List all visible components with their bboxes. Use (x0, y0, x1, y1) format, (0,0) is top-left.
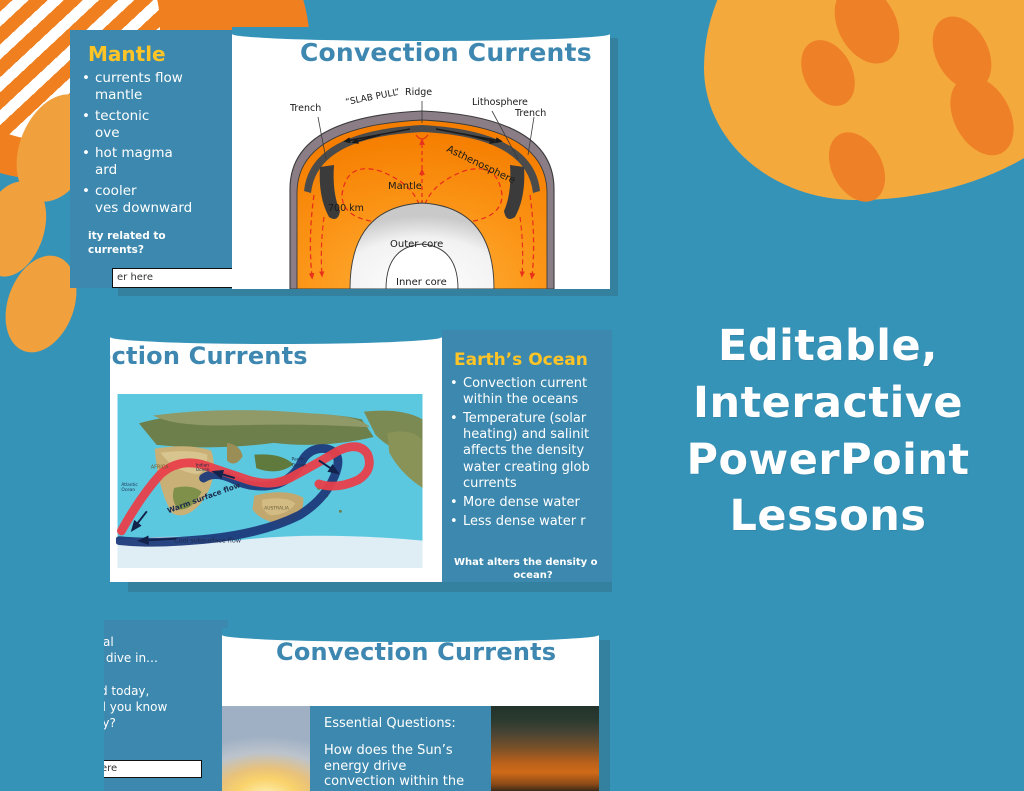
panel-heading: Earth’s Ocean (454, 350, 588, 370)
global-ocean-conveyor-map: Atlantic Ocean Indian Ocean Pacific Ocea… (114, 392, 426, 570)
label-depth: 700 km (328, 203, 364, 214)
hero-line-4: Lessons (648, 488, 1008, 545)
label-trench-left: Trench (289, 103, 321, 114)
hero-line-3: PowerPoint (648, 432, 1008, 489)
answer-input[interactable]: er here (112, 268, 235, 288)
orange-blob-top-right (704, 0, 1024, 200)
photo-strip: Essential Questions: How does the Sun’s … (222, 706, 599, 791)
hero-headline: Editable, Interactive PowerPoint Lessons (648, 318, 1008, 545)
label-pacific-2: Ocean (292, 462, 307, 468)
list-item: tectonic ove (82, 108, 235, 143)
list-item: currents flow mantle (82, 70, 235, 105)
slide-essential-left-panel: ential you dive in… zzed today, ould you… (104, 620, 228, 791)
essential-questions-text: How does the Sun’s energy drive convecti… (324, 743, 483, 790)
essential-questions-title: Essential Questions: (324, 716, 483, 731)
list-item: cooler ves downward (82, 183, 235, 218)
orange-dot-icon (921, 6, 1004, 99)
sunset-photo (491, 706, 599, 791)
slide-ocean-currents[interactable]: nvection Currents (110, 330, 442, 582)
list-item: Convection current within the oceans (450, 376, 612, 408)
panel-text: ential you dive in… zzed today, ould you… (104, 634, 228, 731)
label-outer-core: Outer core (390, 239, 443, 250)
label-africa: AFRICA (151, 464, 169, 470)
promo-graphic-canvas: Mantle currents flow mantle tectonic ove… (0, 0, 1024, 791)
orange-dot-icon (818, 123, 897, 212)
slide-mantle[interactable]: Convection Currents (232, 27, 610, 289)
hero-line-1: Editable, (648, 318, 1008, 375)
answer-input[interactable]: ere (104, 760, 202, 778)
sunrise-photo (222, 706, 310, 791)
list-item: More dense water (450, 495, 612, 511)
slide-title: Convection Currents (300, 38, 592, 67)
orange-dot-icon (938, 66, 1024, 166)
label-lithosphere: Lithosphere (472, 97, 528, 108)
label-atlantic-2: Ocean (121, 487, 135, 493)
label-pacific: Pacific (292, 456, 307, 462)
label-slab-pull: “SLAB PULL” (345, 88, 401, 108)
list-item: Temperature (solar heating) and salinit … (450, 411, 612, 492)
label-australia: AUSTRALIA (264, 505, 290, 511)
slide-ocean-right-panel: Earth’s Ocean Convection current within … (442, 330, 612, 582)
orange-dot-icon (790, 31, 865, 115)
label-mantle: Mantle (388, 181, 422, 192)
label-indian-2: Ocean (196, 467, 210, 473)
orange-dot-icon (0, 173, 58, 285)
panel-bullet-list: currents flow mantle tectonic ove hot ma… (82, 70, 235, 220)
hero-line-2: Interactive (648, 375, 1008, 432)
orange-dot-icon (822, 0, 913, 75)
panel-heading: Mantle (88, 42, 166, 66)
label-ridge: Ridge (405, 87, 432, 98)
slide-title: Convection Currents (276, 638, 556, 666)
slide-essential-questions[interactable]: Convection Currents Essential Questions:… (222, 628, 599, 791)
slide-title: nvection Currents (110, 342, 308, 370)
panel-question-line2: ocean? (454, 569, 612, 582)
slide-mantle-left-panel: Mantle currents flow mantle tectonic ove… (70, 30, 235, 288)
essential-questions-block: Essential Questions: How does the Sun’s … (310, 706, 491, 791)
mantle-convection-diagram: Trench “SLAB PULL” Ridge Lithosphere Tre… (250, 71, 594, 289)
panel-question: What alters the density o ocean? (454, 542, 612, 582)
panel-question: ity related to currents? (88, 230, 235, 257)
list-item: hot magma ard (82, 145, 235, 180)
panel-bullet-list: Convection current within the oceans Tem… (450, 376, 612, 533)
list-item: Less dense water r (450, 514, 612, 530)
label-trench-right: Trench (514, 108, 546, 119)
label-cool-subsurface-flow: Cool subsurface flow (174, 537, 241, 545)
panel-question-line1: What alters the density o (454, 557, 598, 568)
label-inner-core: Inner core (396, 277, 447, 288)
